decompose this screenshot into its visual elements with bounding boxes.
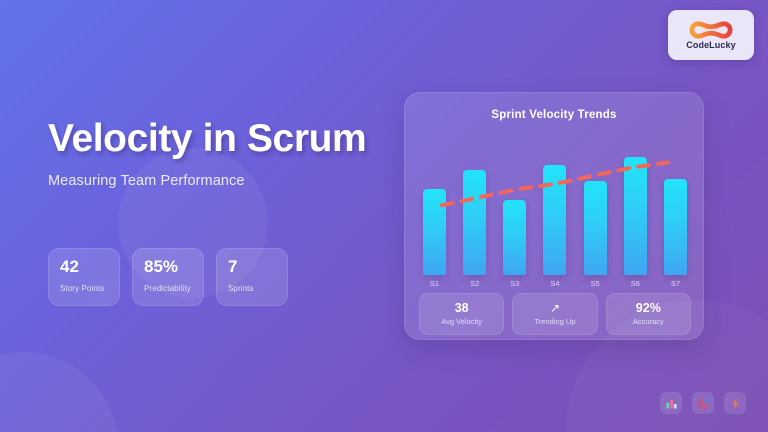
stat-value: 7 — [228, 258, 287, 277]
tile-bar-chart[interactable] — [660, 392, 682, 414]
chart-panel: Sprint Velocity Trends S1S2S3S4S5S6S7 38… — [404, 92, 704, 340]
page-title: Velocity in Scrum — [48, 118, 368, 159]
brand-logo-badge[interactable]: CodeLucky — [668, 10, 754, 60]
bar-s4 — [543, 165, 566, 275]
bar-s1 — [423, 189, 446, 275]
stat-card-story-points[interactable]: 42 Story Points — [48, 248, 120, 306]
lightning-bolt-icon — [729, 397, 742, 410]
bar-s5 — [584, 181, 607, 275]
stat-label: Predictability — [144, 284, 203, 293]
chart-title: Sprint Velocity Trends — [405, 109, 703, 121]
x-tick-s6: S6 — [624, 279, 647, 288]
summary-card-avg-velocity[interactable]: 38 Avg Velocity — [419, 293, 504, 335]
tile-target[interactable] — [692, 392, 714, 414]
icon-tile-row — [660, 392, 746, 414]
slide-canvas: CodeLucky Velocity in Scrum Measuring Te… — [0, 0, 768, 432]
stat-card-sprints[interactable]: 7 Sprints — [216, 248, 288, 306]
decorative-circle-bottom-left — [0, 352, 118, 432]
stat-value: 85% — [144, 258, 203, 277]
chart-plot-area — [423, 141, 687, 275]
chart-x-axis: S1S2S3S4S5S6S7 — [423, 279, 687, 288]
stat-card-row: 42 Story Points 85% Predictability 7 Spr… — [48, 248, 288, 306]
tile-lightning[interactable] — [724, 392, 746, 414]
x-tick-s5: S5 — [584, 279, 607, 288]
brand-name: CodeLucky — [686, 41, 735, 50]
summary-value: 92% — [636, 302, 661, 315]
summary-label: Avg Velocity — [441, 317, 482, 326]
infinity-icon — [689, 20, 733, 40]
hero-block: Velocity in Scrum Measuring Team Perform… — [48, 118, 368, 189]
bar-s2 — [463, 170, 486, 275]
chart-summary-row: 38 Avg Velocity ↗ Trending Up 92% Accura… — [419, 293, 691, 335]
x-tick-s3: S3 — [503, 279, 526, 288]
trending-up-arrow-icon: ↗ — [550, 302, 560, 314]
summary-label: Trending Up — [534, 317, 575, 326]
stat-value: 42 — [60, 258, 119, 277]
stat-card-predictability[interactable]: 85% Predictability — [132, 248, 204, 306]
x-tick-s1: S1 — [423, 279, 446, 288]
target-icon — [697, 397, 710, 410]
summary-card-accuracy[interactable]: 92% Accuracy — [606, 293, 691, 335]
x-tick-s4: S4 — [543, 279, 566, 288]
bar-series — [423, 141, 687, 275]
bar-chart-icon — [665, 397, 678, 410]
x-tick-s2: S2 — [463, 279, 486, 288]
bar-s7 — [664, 179, 687, 275]
page-subtitle: Measuring Team Performance — [48, 173, 368, 189]
stat-label: Sprints — [228, 284, 287, 293]
summary-card-trending-up[interactable]: ↗ Trending Up — [512, 293, 597, 335]
x-tick-s7: S7 — [664, 279, 687, 288]
stat-label: Story Points — [60, 284, 119, 293]
summary-label: Accuracy — [633, 317, 664, 326]
bar-s6 — [624, 157, 647, 275]
summary-value: 38 — [455, 302, 469, 315]
bar-s3 — [503, 200, 526, 275]
